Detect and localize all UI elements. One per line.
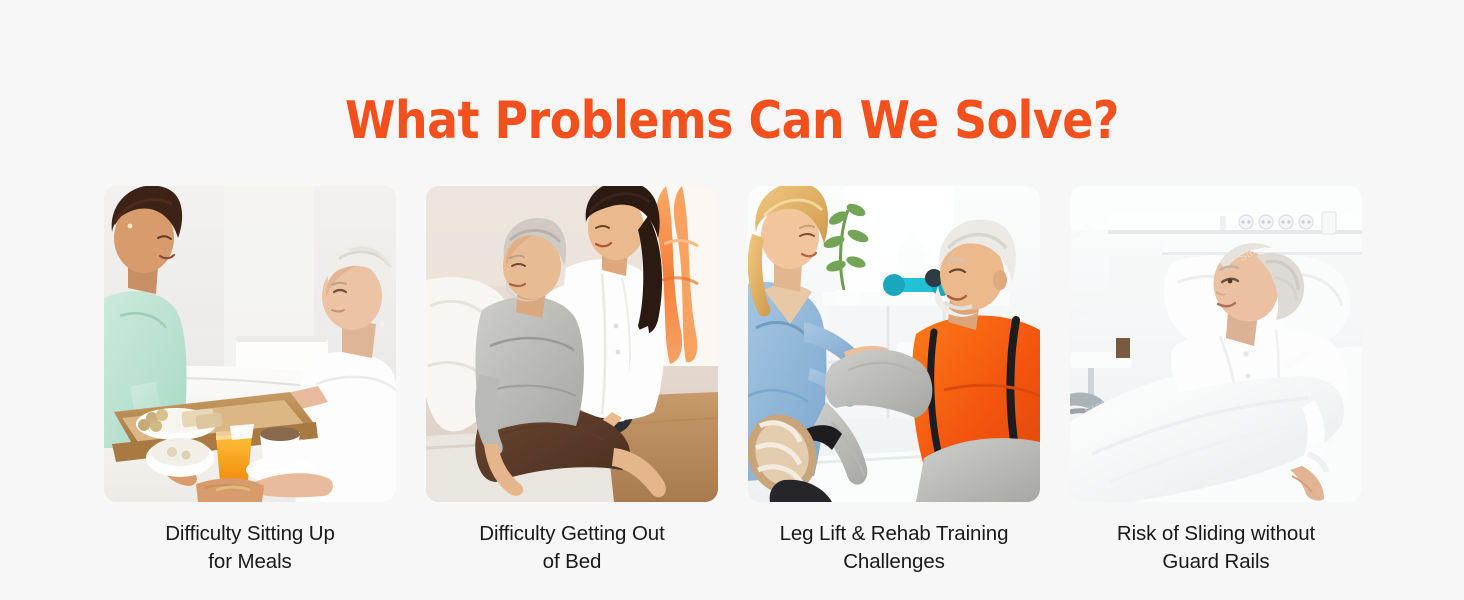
caption-line-1: Leg Lift & Rehab Training: [780, 522, 1009, 545]
caption-line-2: Guard Rails: [1162, 550, 1269, 573]
photo-getting-out-of-bed: [426, 186, 718, 502]
caption-line-1: Risk of Sliding without: [1117, 522, 1315, 545]
problem-card[interactable]: Stock Stock Stock Stock Stock Stock Stoc…: [1070, 186, 1362, 576]
problem-cards-row: Difficulty Sitting Up for Meals: [104, 186, 1362, 576]
leg-lift-rehab-scene: [748, 186, 1040, 502]
problem-card-caption: Difficulty Sitting Up for Meals: [104, 520, 396, 576]
problem-card-caption: Difficulty Getting Out of Bed: [426, 520, 718, 576]
caption-line-2: of Bed: [543, 550, 602, 573]
sliding-risk-scene: Stock Stock Stock Stock Stock Stock Stoc…: [1070, 186, 1362, 502]
meal-tray-scene: [104, 186, 396, 502]
problem-card[interactable]: Difficulty Sitting Up for Meals: [104, 186, 396, 576]
problem-card[interactable]: Leg Lift & Rehab Training Challenges: [748, 186, 1040, 576]
page-title: What Problems Can We Solve?: [88, 92, 1376, 150]
photo-leg-lift-rehab: [748, 186, 1040, 502]
photo-sliding-risk: Stock Stock Stock Stock Stock Stock Stoc…: [1070, 186, 1362, 502]
problems-we-solve-section: What Problems Can We Solve?: [0, 0, 1464, 600]
caption-line-2: Challenges: [843, 550, 945, 573]
problem-card-caption: Leg Lift & Rehab Training Challenges: [748, 520, 1040, 576]
caption-line-2: for Meals: [208, 550, 291, 573]
problem-card[interactable]: Difficulty Getting Out of Bed: [426, 186, 718, 576]
problem-card-caption: Risk of Sliding without Guard Rails: [1070, 520, 1362, 576]
getting-out-of-bed-scene: [426, 186, 718, 502]
photo-meal-tray: [104, 186, 396, 502]
caption-line-1: Difficulty Getting Out: [479, 522, 664, 545]
caption-line-1: Difficulty Sitting Up: [165, 522, 335, 545]
